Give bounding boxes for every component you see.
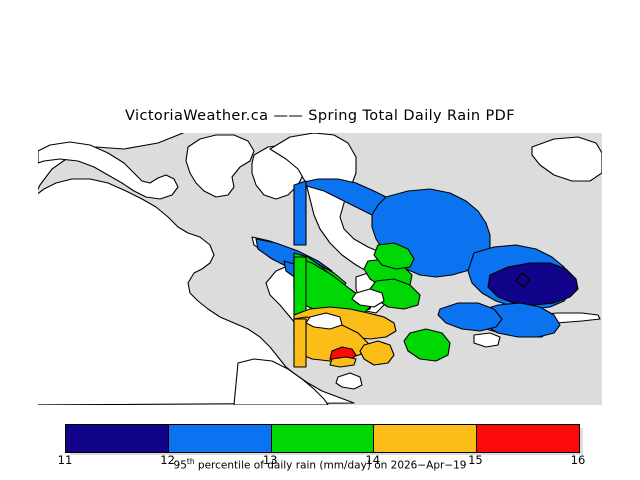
colorbar-segment-14-15 [373,425,476,452]
colorbar-segment-13-14 [271,425,374,452]
colorbar-segment-11-12 [66,425,168,452]
colorbar-strip [65,424,580,453]
region-green-west-slab [294,257,306,319]
region-orange-west-slab [294,319,306,367]
caption-rest: percentile of daily rain (mm/day) on 202… [195,460,467,472]
colorbar-segment-12-13 [168,425,271,452]
colorbar-caption: 95th percentile of daily rain (mm/day) o… [0,457,640,472]
caption-superscript: th [187,457,195,466]
colorbar-segment-15-16 [476,425,579,452]
weather-map-page: VictoriaWeather.ca —— Spring Total Daily… [0,0,640,480]
map-panel [38,133,602,405]
map-canvas [38,133,602,405]
caption-prefix: 95 [174,460,187,472]
region-upper-left-blue-edge [294,181,306,245]
region-red-islet-fringe [330,357,356,367]
region-far-east-dark-patch [488,263,578,305]
map-landmasses [38,133,602,405]
page-title: VictoriaWeather.ca —— Spring Total Daily… [0,108,640,124]
